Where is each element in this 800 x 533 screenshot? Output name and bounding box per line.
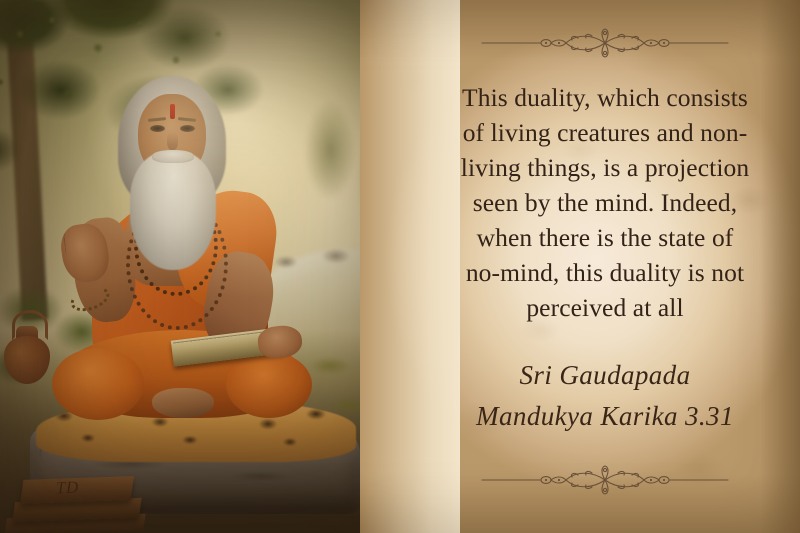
quote-line: seen by the mind. Indeed,: [432, 185, 778, 220]
quote-line: This duality, which consists: [432, 80, 778, 115]
hand-fingers: [62, 219, 108, 259]
eye-left: [150, 125, 165, 132]
attribution-block: Sri Gaudapada Mandukya Karika 3.31: [425, 355, 785, 437]
sage-beard: [130, 152, 216, 270]
quote-line: perceived at all: [432, 290, 778, 325]
filigree-divider-top-icon: [480, 28, 730, 58]
quote-line: of living creatures and non-: [432, 115, 778, 150]
nose: [167, 132, 178, 150]
quote-source: Mandukya Karika 3.31: [425, 395, 785, 437]
quote-text: This duality, which consists of living c…: [432, 80, 778, 325]
tilak-mark: [170, 104, 175, 119]
quote-text-column: This duality, which consists of living c…: [420, 0, 790, 533]
sage-knee-right: [226, 352, 312, 418]
quote-line: living things, is a projection: [432, 150, 778, 185]
sage-knee-left: [52, 348, 144, 420]
quote-line: when there is the state of: [432, 220, 778, 255]
sage-foot: [152, 388, 214, 418]
quote-line: no-mind, this duality is not: [432, 255, 778, 290]
quote-card: TD: [0, 0, 800, 533]
eye-right: [180, 125, 195, 132]
quote-author: Sri Gaudapada: [425, 355, 785, 395]
watermark-td: TD: [56, 478, 79, 499]
sage-moustache: [152, 150, 194, 163]
filigree-divider-bottom-icon: [480, 465, 730, 495]
